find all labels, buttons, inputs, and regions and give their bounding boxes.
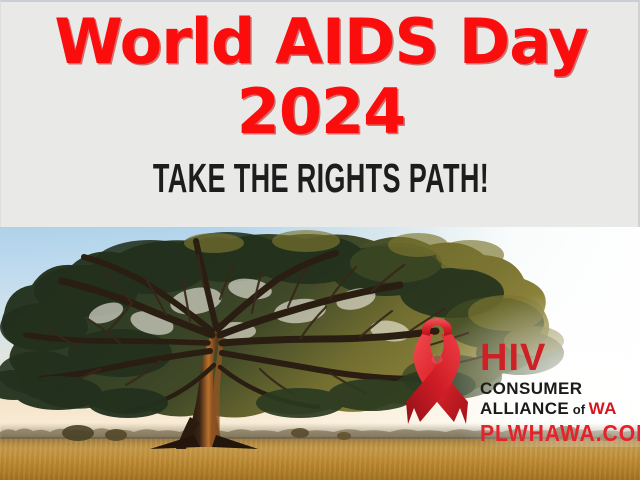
logo-alliance-of-text: of <box>569 402 589 417</box>
hiv-consumer-alliance-logo[interactable]: HIV CONSUMER ALLIANCE of WA PLWHAWA.COM <box>398 312 634 442</box>
page-title-line-2: 2024 <box>1 76 640 148</box>
logo-alliance-wa-text: WA <box>589 399 617 418</box>
header-band: World AIDS Day 2024 TAKE THE RIGHTS PATH… <box>0 0 640 227</box>
logo-website-url[interactable]: PLWHAWA.COM <box>480 421 622 446</box>
logo-alliance-text: ALLIANCE <box>480 399 569 418</box>
logo-hiv-text: HIV <box>480 338 634 378</box>
world-aids-day-poster: World AIDS Day 2024 TAKE THE RIGHTS PATH… <box>0 0 640 480</box>
logo-wordmark: HIV CONSUMER ALLIANCE of WA PLWHAWA.COM <box>480 312 634 446</box>
aids-ribbon-icon <box>398 312 476 434</box>
page-subtitle: TAKE THE RIGHTS PATH! <box>110 154 532 202</box>
logo-alliance-line: ALLIANCE of WA <box>480 399 634 420</box>
page-title-line-1: World AIDS Day <box>1 6 640 78</box>
logo-consumer-text: CONSUMER <box>480 379 634 399</box>
